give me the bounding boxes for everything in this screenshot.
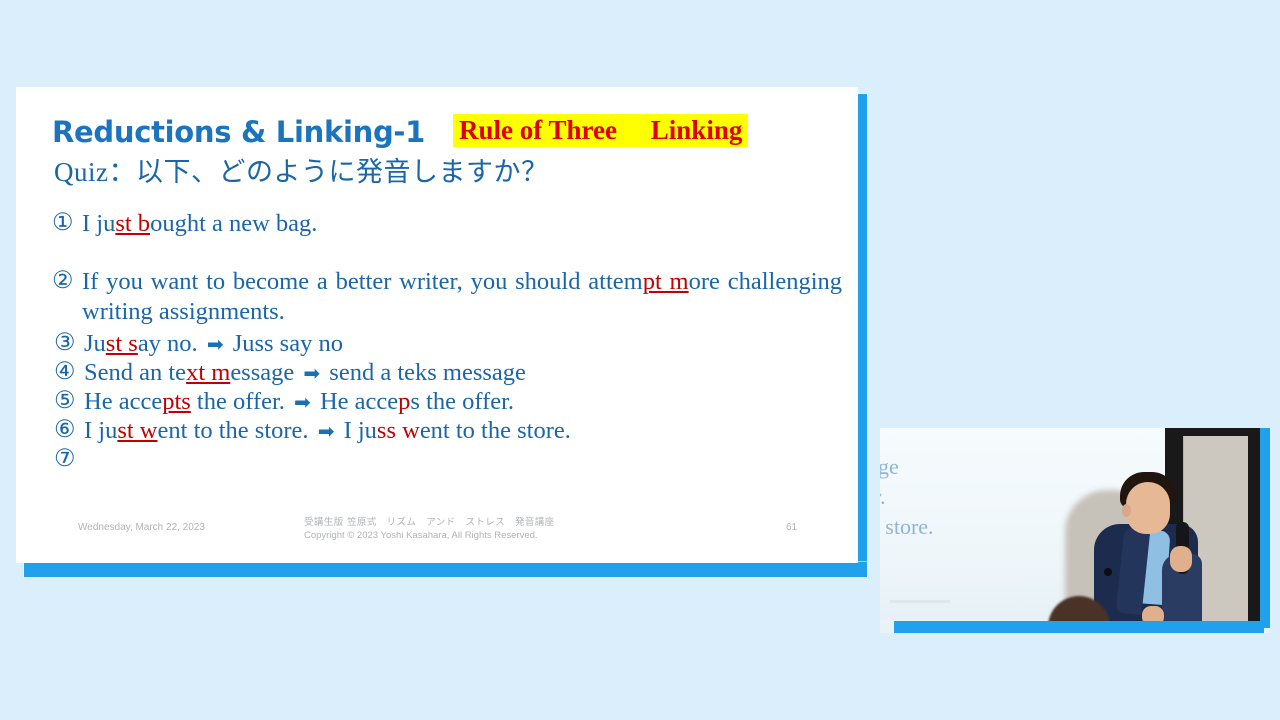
text-part: He acce	[314, 388, 398, 415]
projected-footer-smudge	[890, 600, 950, 603]
text-part: Ju	[84, 330, 106, 357]
list-item-number: ⑥	[54, 416, 84, 446]
text-part-emphasis: st b	[115, 210, 150, 237]
list-item: ② If you want to become a better writer,…	[52, 267, 842, 327]
text-part-emphasis: pts	[162, 388, 191, 415]
text-part: essage	[230, 359, 300, 386]
list-item-number: ⑤	[54, 387, 84, 417]
footer-page-number: 61	[786, 522, 797, 533]
footer-date: Wednesday, March 22, 2023	[78, 522, 205, 533]
presenter-hand	[1170, 546, 1192, 572]
list-item-number: ③	[54, 329, 84, 359]
projected-text-line: e store.	[880, 514, 934, 540]
footer-copyright: 受講生版 笠原式 リズム アンド ストレス 発音講座 Copyright © 2…	[304, 517, 555, 543]
footer-course-title: 受講生版 笠原式 リズム アンド ストレス 発音講座	[304, 517, 555, 530]
list-item-number: ④	[54, 358, 84, 388]
text-part: I ju	[337, 417, 376, 444]
arrow-icon: ➡	[204, 332, 227, 356]
text-part: He acce	[84, 388, 162, 415]
projected-text-line: r.	[880, 484, 886, 510]
title-highlight-badge: Rule of Three Linking	[453, 114, 748, 147]
slide-accent-bar-bottom	[24, 562, 867, 577]
text-part-emphasis: ss w	[377, 417, 420, 444]
slide-accent-bar-right	[858, 94, 867, 570]
list-item-number: ①	[52, 209, 82, 239]
list-item-text: Just say no. ➡ Juss say no	[84, 329, 844, 359]
text-part-emphasis: p	[398, 388, 410, 415]
list-item-text: He accepts the offer. ➡ He acceps the of…	[84, 387, 844, 417]
footer-copyright-line: Copyright © 2023 Yoshi Kasahara, All Rig…	[304, 530, 555, 543]
text-part: ay no.	[138, 330, 204, 357]
list-item-text: If you want to become a better writer, y…	[82, 267, 842, 327]
projected-text-line: ge	[880, 454, 899, 480]
quiz-prompt-text: Quiz：以下、どのように発音しますか？	[54, 150, 548, 189]
text-part: the offer.	[191, 388, 291, 415]
list-item: ⑦	[54, 445, 844, 475]
list-item-text: Send an text message ➡ send a teks messa…	[84, 358, 844, 388]
lapel-mic-icon	[1104, 568, 1112, 576]
video-accent-bar-bottom	[894, 621, 1264, 633]
text-part-emphasis: xt m	[186, 359, 230, 386]
text-part: s the offer.	[410, 388, 514, 415]
text-part-emphasis: pt m	[643, 268, 689, 295]
arrow-icon: ➡	[300, 361, 323, 385]
list-item-text: I just bought a new bag.	[82, 209, 842, 239]
video-accent-bar-right	[1260, 428, 1270, 628]
presenter-video-inset[interactable]: ge r. e store.	[880, 428, 1270, 633]
text-part: Juss say no	[227, 330, 343, 357]
list-item-number: ⑦	[54, 445, 84, 475]
text-part-emphasis: st w	[117, 417, 157, 444]
page-title: Reductions & Linking-1	[52, 118, 425, 147]
list-item-number: ②	[52, 267, 82, 297]
arrow-icon: ➡	[315, 419, 338, 443]
list-item-text: I just went to the store. ➡ I juss went …	[84, 416, 844, 446]
arrow-icon: ➡	[291, 390, 314, 414]
screen-root: Reductions & Linking-1 Rule of Three Lin…	[0, 0, 1280, 720]
slide-title-row: Reductions & Linking-1 Rule of Three Lin…	[52, 97, 842, 147]
text-part: If you want to become a better writer, y…	[82, 268, 643, 295]
text-part: ent to the store.	[420, 417, 571, 444]
presenter-head	[1126, 482, 1170, 534]
presentation-slide: Reductions & Linking-1 Rule of Three Lin…	[16, 87, 858, 563]
list-item: ⑥ I just went to the store. ➡ I juss wen…	[54, 416, 844, 446]
text-part: ought a new bag.	[150, 210, 317, 237]
slide-footer: Wednesday, March 22, 2023 受講生版 笠原式 リズム ア…	[16, 513, 858, 557]
text-part: send a teks message	[323, 359, 526, 386]
text-part: I ju	[84, 417, 117, 444]
presenter-ear	[1122, 504, 1131, 517]
text-part: I ju	[82, 210, 115, 237]
text-part: ent to the store.	[158, 417, 315, 444]
list-item: ④ Send an text message ➡ send a teks mes…	[54, 358, 844, 388]
list-item: ① I just bought a new bag.	[52, 209, 842, 239]
list-item: ③ Just say no. ➡ Juss say no	[54, 329, 844, 359]
list-item: ⑤ He accepts the offer. ➡ He acceps the …	[54, 387, 844, 417]
text-part: Send an te	[84, 359, 186, 386]
text-part-emphasis: st s	[106, 330, 138, 357]
